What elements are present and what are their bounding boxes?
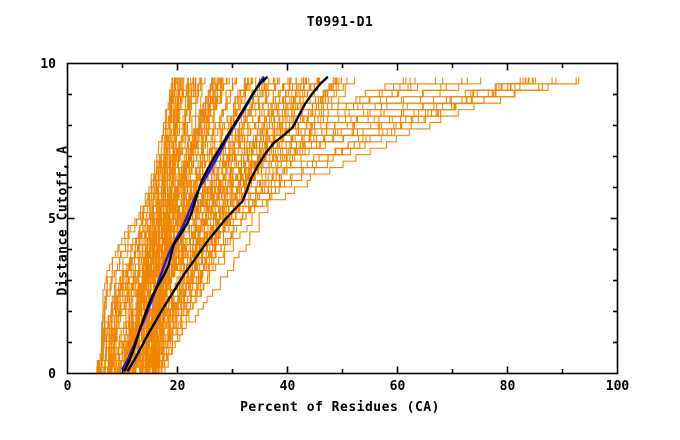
y-tick-label: 0 — [22, 367, 56, 381]
x-tick-label: 80 — [488, 379, 528, 394]
x-axis-label: Percent of Residues (CA) — [0, 400, 680, 415]
chart-title: T0991-D1 — [0, 15, 680, 30]
y-tick-label: 10 — [22, 57, 56, 71]
x-tick-label: 20 — [158, 379, 198, 394]
y-axis-label: Distance Cutoff, A — [56, 66, 71, 376]
ensemble-curves-layer — [94, 77, 579, 373]
x-tick-label: 40 — [268, 379, 308, 394]
plot-canvas — [0, 0, 680, 440]
x-tick-label: 100 — [598, 379, 638, 394]
x-tick-label: 60 — [378, 379, 418, 394]
y-tick-label: 5 — [22, 212, 56, 226]
chart-container: T0991-D1 Percent of Residues (CA) Distan… — [0, 0, 680, 440]
